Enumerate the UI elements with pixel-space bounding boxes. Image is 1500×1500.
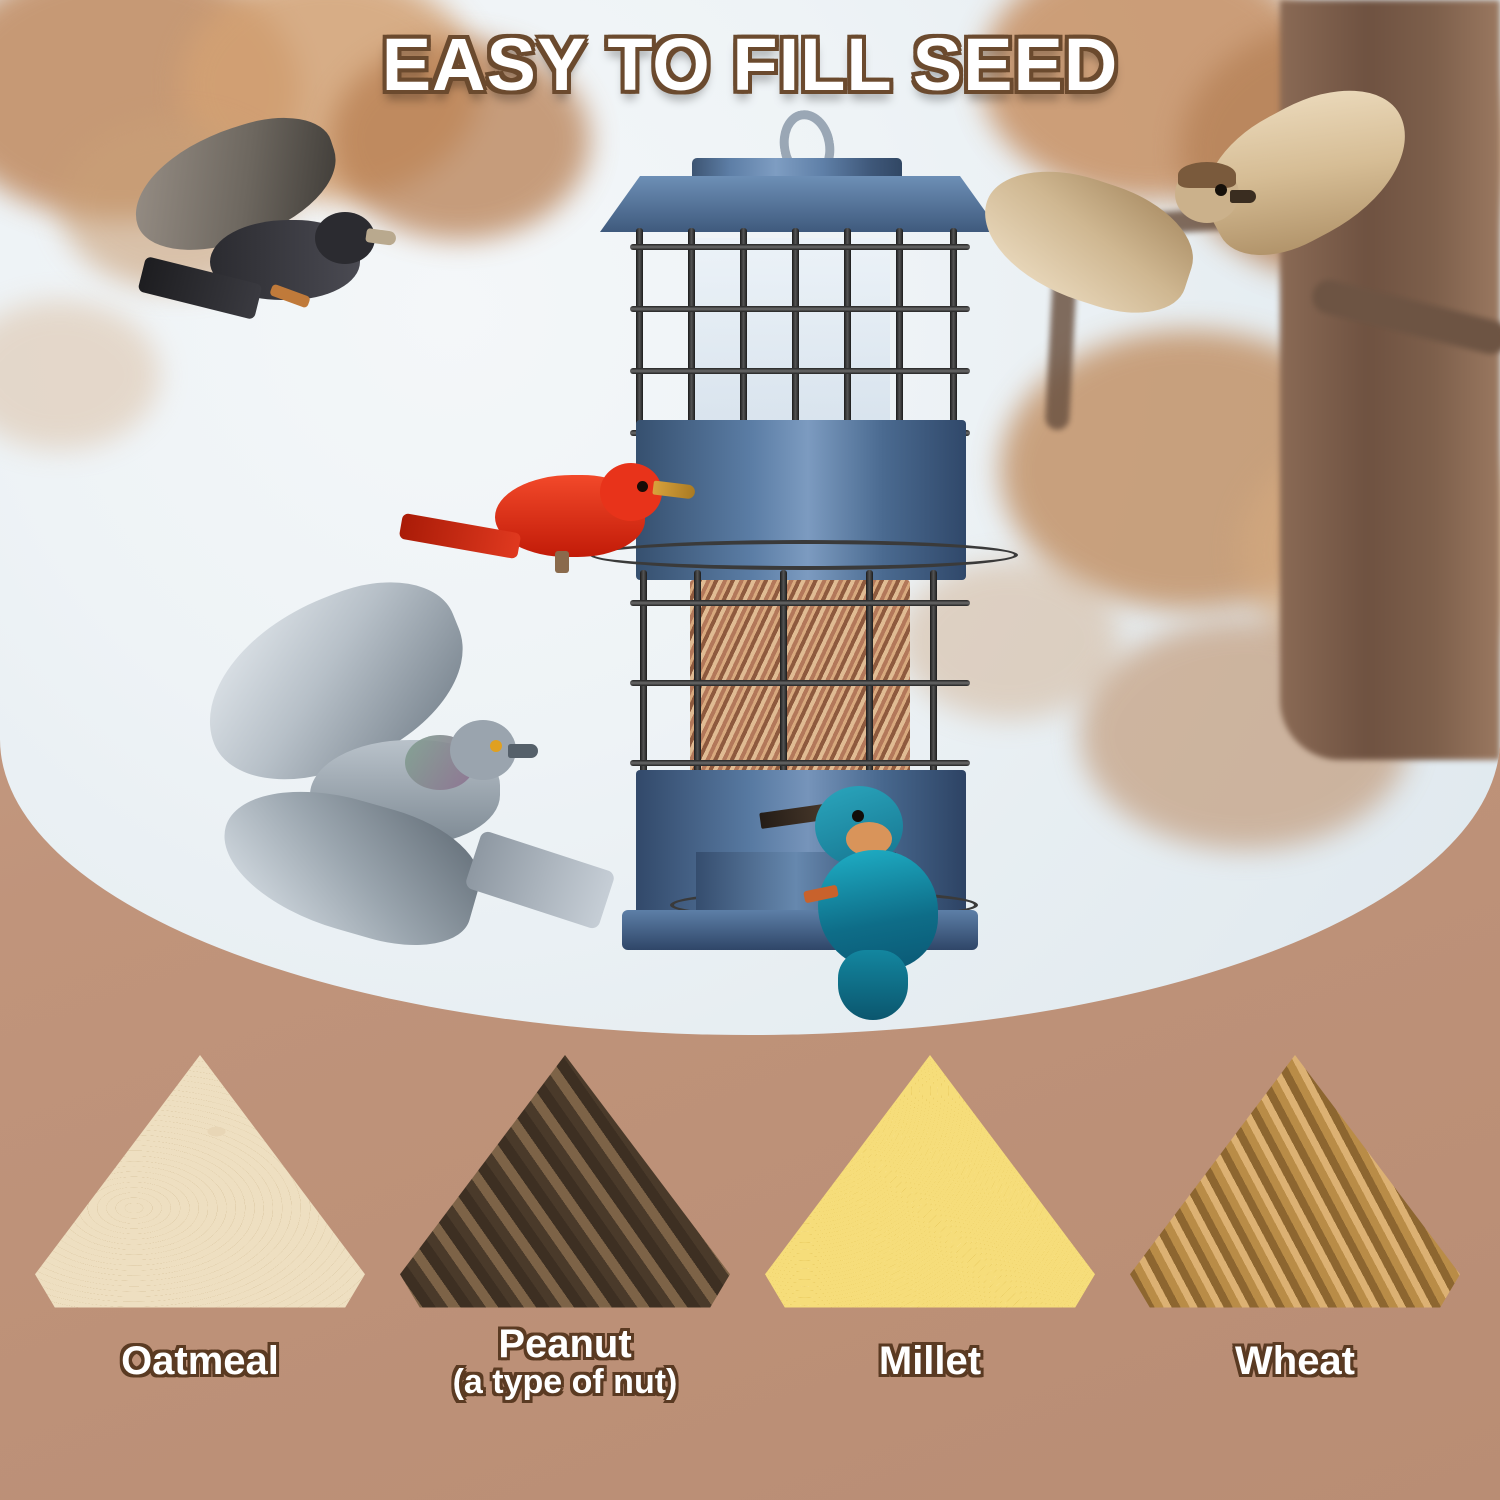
bird-red-finch — [405, 455, 705, 595]
cage-bar-horizontal — [630, 244, 970, 250]
seed-image-wheat — [1130, 1055, 1460, 1310]
cage-bar-horizontal — [630, 368, 970, 374]
seed-label-text: Millet — [879, 1339, 981, 1383]
bird-tail — [838, 950, 908, 1020]
seed-label-sub: (a type of nut) — [400, 1365, 730, 1401]
seed-image-oatmeal — [35, 1055, 365, 1310]
cage-bar-horizontal — [630, 680, 970, 686]
seed-card-oatmeal[interactable]: Oatmeal — [35, 1055, 365, 1310]
seed-card-millet[interactable]: Millet — [765, 1055, 1095, 1310]
cage-bar-horizontal — [630, 306, 970, 312]
seed-type-gallery: Oatmeal Peanut (a type of nut) Millet Wh… — [0, 1055, 1500, 1500]
bird-head-cap — [1178, 162, 1236, 188]
feeder-roof — [600, 176, 1000, 232]
seed-label-peanut: Peanut (a type of nut) — [400, 1323, 730, 1401]
cage-bar-horizontal — [630, 760, 970, 766]
seed-texture — [35, 1055, 365, 1310]
seed-label-text: Oatmeal — [121, 1339, 279, 1383]
seed-texture — [765, 1055, 1095, 1310]
bird-sparrow — [990, 110, 1410, 350]
bird-eye — [1215, 184, 1227, 196]
hero-photo — [0, 0, 1500, 1035]
bird-tail — [464, 830, 616, 930]
seed-label-oatmeal: Oatmeal — [35, 1340, 365, 1382]
seed-card-wheat[interactable]: Wheat — [1130, 1055, 1460, 1310]
seed-label-wheat: Wheat — [1130, 1340, 1460, 1382]
seed-texture — [1130, 1055, 1460, 1310]
seed-image-millet — [765, 1055, 1095, 1310]
bird-beak-icon — [1230, 190, 1256, 203]
bird-eye — [637, 481, 648, 492]
bird-pigeon-dark — [120, 130, 420, 360]
seed-label-text: Wheat — [1235, 1339, 1355, 1383]
bird-foot — [555, 551, 569, 573]
bird-pigeon-grey — [190, 600, 610, 980]
bird-eye — [852, 810, 864, 822]
seed-label-millet: Millet — [765, 1340, 1095, 1382]
feeder-lower-cage — [630, 570, 970, 790]
seed-card-peanut[interactable]: Peanut (a type of nut) — [400, 1055, 730, 1310]
bird-eye — [490, 740, 502, 752]
page-title: EASY TO FILL SEED — [0, 22, 1500, 107]
seed-label-text: Peanut — [498, 1322, 631, 1366]
seed-image-peanut — [400, 1055, 730, 1310]
bird-beak-icon — [508, 744, 538, 758]
bird-kingfisher — [760, 770, 980, 1030]
product-infographic: EASY TO FILL SEED Oatmeal Peanut (a type… — [0, 0, 1500, 1500]
cage-bar-horizontal — [630, 600, 970, 606]
seed-texture — [400, 1055, 730, 1310]
bird-head — [450, 720, 516, 780]
